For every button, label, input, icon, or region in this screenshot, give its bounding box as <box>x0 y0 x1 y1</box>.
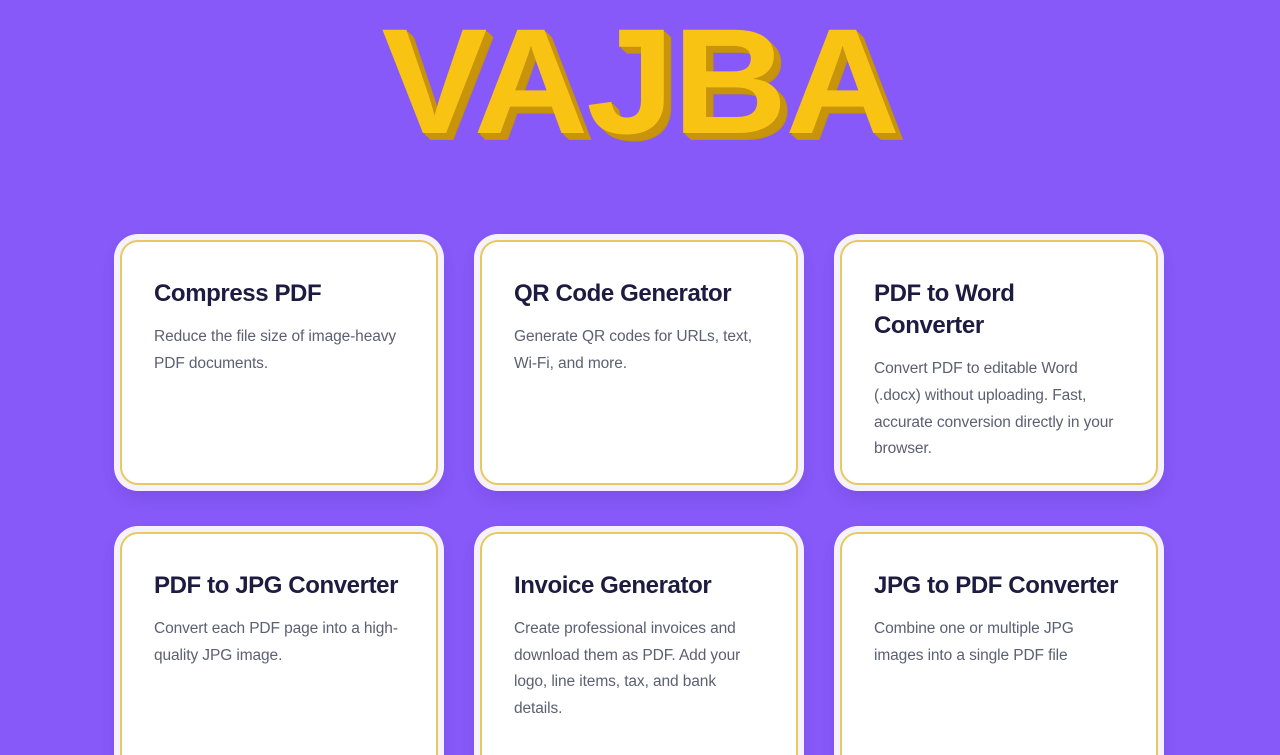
tool-card-title: JPG to PDF Converter <box>874 570 1124 602</box>
tool-card-compress-pdf[interactable]: Compress PDF Reduce the file size of ima… <box>120 240 438 485</box>
tool-card-title: PDF to JPG Converter <box>154 570 404 602</box>
tool-card-pdf-to-word-converter[interactable]: PDF to Word Converter Convert PDF to edi… <box>840 240 1158 485</box>
tool-card-description: Convert PDF to editable Word (.docx) wit… <box>874 356 1124 463</box>
tool-card-description: Convert each PDF page into a high-qualit… <box>154 616 404 669</box>
tool-card-title: Compress PDF <box>154 278 404 310</box>
tool-card-qr-code-generator[interactable]: QR Code Generator Generate QR codes for … <box>480 240 798 485</box>
tool-card-pdf-to-jpg-converter[interactable]: PDF to JPG Converter Convert each PDF pa… <box>120 532 438 755</box>
tool-card-title: Invoice Generator <box>514 570 764 602</box>
tool-card-description: Create professional invoices and downloa… <box>514 616 764 723</box>
tool-card-jpg-to-pdf-converter[interactable]: JPG to PDF Converter Combine one or mult… <box>840 532 1158 755</box>
tool-card-title: PDF to Word Converter <box>874 278 1124 342</box>
tool-card-grid: Compress PDF Reduce the file size of ima… <box>120 240 1160 755</box>
tool-card-description: Combine one or multiple JPG images into … <box>874 616 1124 669</box>
tool-card-description: Generate QR codes for URLs, text, Wi-Fi,… <box>514 324 764 377</box>
tool-card-description: Reduce the file size of image-heavy PDF … <box>154 324 404 377</box>
site-header: VAJBA <box>0 0 1280 160</box>
site-logo[interactable]: VAJBA <box>382 6 899 156</box>
tool-card-title: QR Code Generator <box>514 278 764 310</box>
tool-card-invoice-generator[interactable]: Invoice Generator Create professional in… <box>480 532 798 755</box>
